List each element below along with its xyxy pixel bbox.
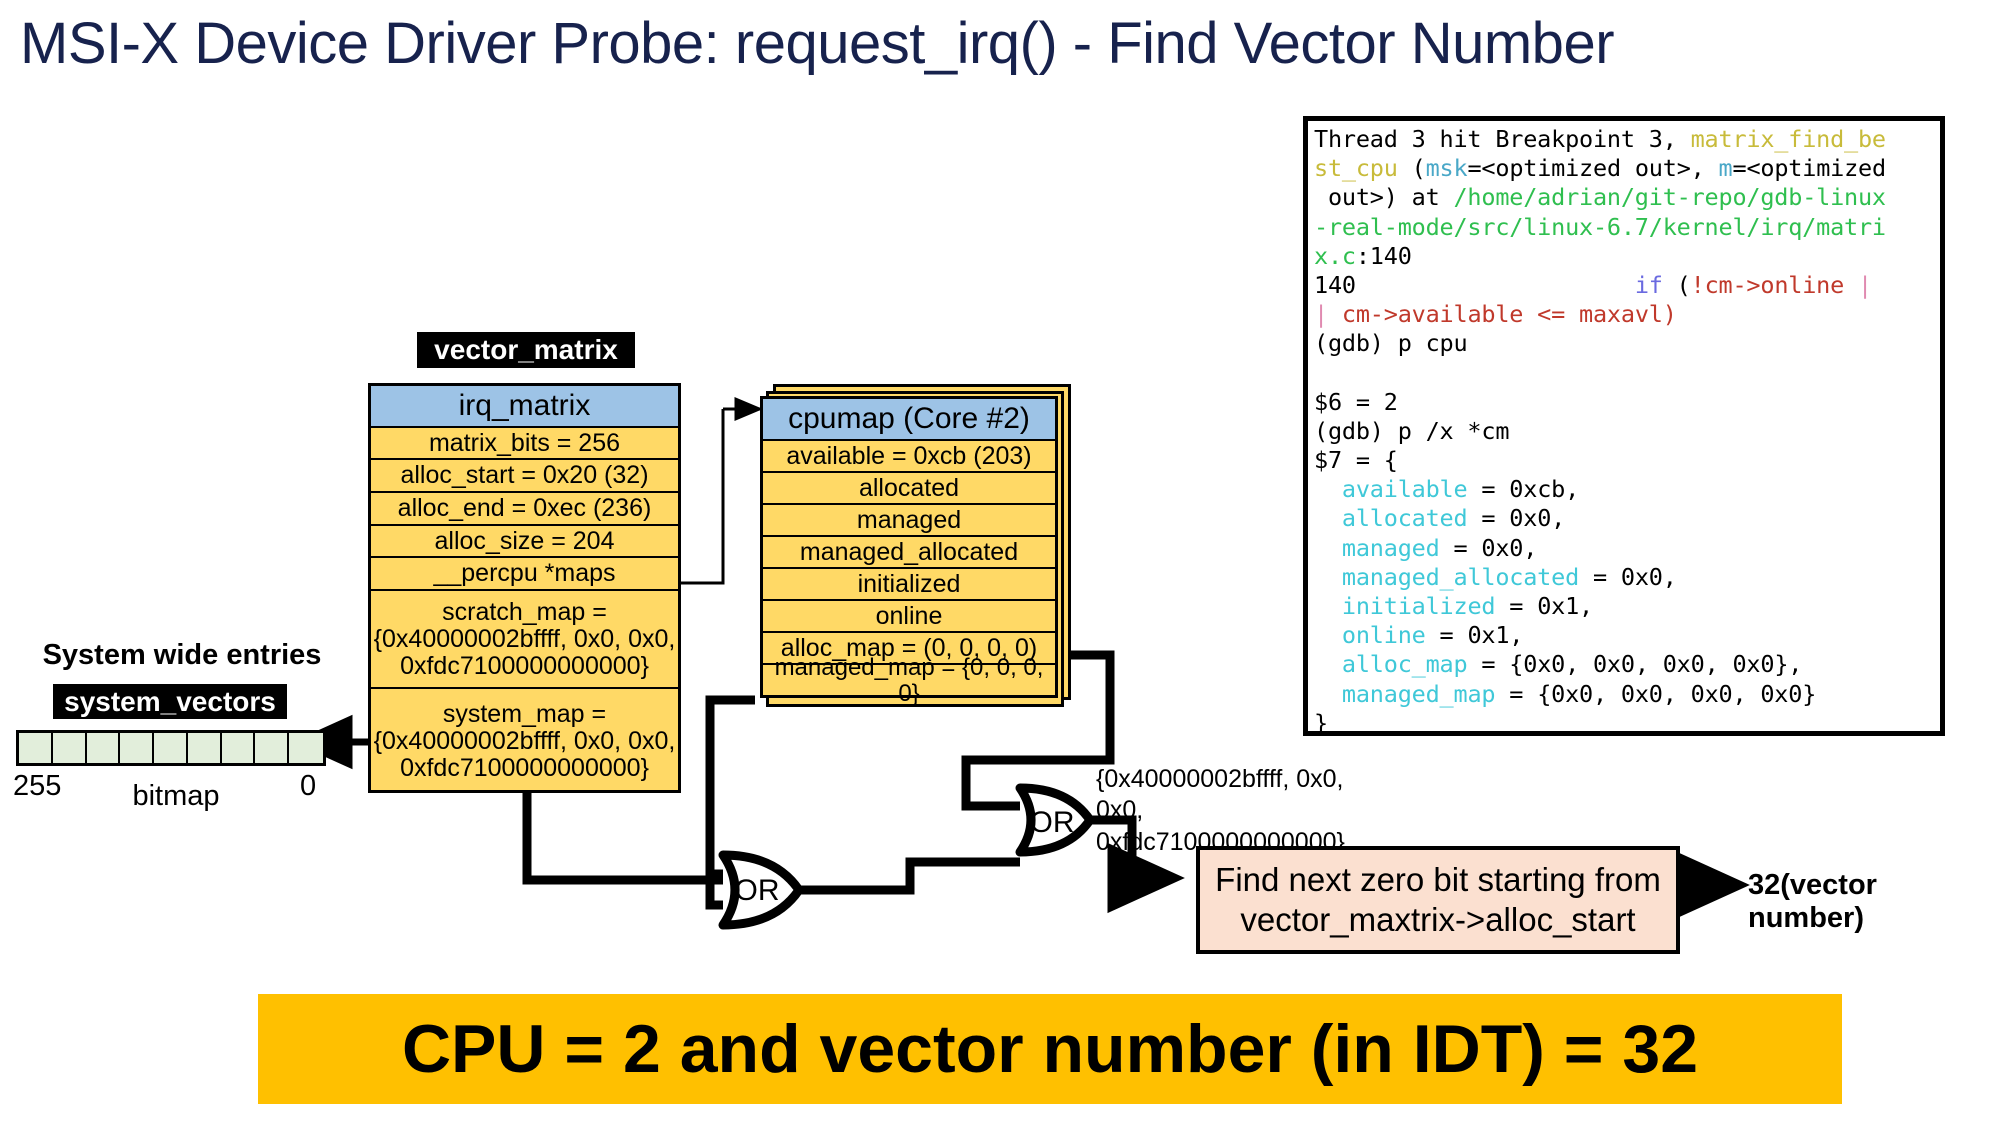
summary-banner: CPU = 2 and vector number (in IDT) = 32 [258, 994, 1842, 1104]
gdb-line: alloc_map = {0x0, 0x0, 0x0, 0x0}, [1314, 650, 1940, 679]
bitmap-cell [87, 733, 121, 763]
gdb-line: managed_allocated = 0x0, [1314, 563, 1940, 592]
gdb-line: (gdb) p cpu [1314, 329, 1940, 358]
vector-matrix-header: irq_matrix [371, 386, 678, 428]
bitmap-index-low: 0 [300, 770, 316, 803]
cpumap-row: initialized [763, 569, 1055, 601]
gdb-line [1314, 359, 1940, 388]
or-gate-1-label: OR [729, 874, 785, 908]
gdb-line: Thread 3 hit Breakpoint 3, matrix_find_b… [1314, 125, 1940, 154]
cpumap-row: managed_allocated [763, 537, 1055, 569]
find-next-zero-bit-box: Find next zero bit starting from vector_… [1196, 846, 1680, 954]
bitmap-cell [255, 733, 289, 763]
cpumap-row: allocated [763, 473, 1055, 505]
vector-number-output-label: 32(vector number) [1748, 869, 2000, 935]
vector-matrix-row: alloc_end = 0xec (236) [371, 493, 678, 526]
system-wide-entries-label: System wide entries [42, 639, 322, 672]
gdb-line: out>) at /home/adrian/git-repo/gdb-linux [1314, 183, 1940, 212]
gdb-line: -real-mode/src/linux-6.7/kernel/irq/matr… [1314, 213, 1940, 242]
page-title: MSI-X Device Driver Probe: request_irq()… [20, 14, 1920, 75]
bitmap-cell [289, 733, 323, 763]
bitmap-cell [154, 733, 188, 763]
vector-matrix-row: alloc_size = 204 [371, 526, 678, 558]
vector-matrix-row-percpu-maps: __percpu *maps [371, 558, 678, 591]
gdb-line: available = 0xcb, [1314, 475, 1940, 504]
bitmap-caption: bitmap [96, 780, 256, 813]
gdb-line: (gdb) p /x *cm [1314, 417, 1940, 446]
gdb-line: managed_map = {0x0, 0x0, 0x0, 0x0} [1314, 680, 1940, 709]
gdb-terminal-panel: Thread 3 hit Breakpoint 3, matrix_find_b… [1303, 116, 1945, 736]
gdb-line: allocated = 0x0, [1314, 504, 1940, 533]
gdb-line: st_cpu (msk=<optimized out>, m=<optimize… [1314, 154, 1940, 183]
bitmap-cell [53, 733, 87, 763]
gdb-line: $6 = 2 [1314, 388, 1940, 417]
vector-matrix-chip: vector_matrix [417, 332, 635, 368]
or-gate-2-annotation: {0x40000002bffff, 0x0, 0x0, 0xfdc7100000… [1096, 764, 1396, 858]
gdb-line: managed = 0x0, [1314, 534, 1940, 563]
gdb-line: online = 0x1, [1314, 621, 1940, 650]
cpumap-row: available = 0xcb (203) [763, 441, 1055, 473]
gdb-line: | cm->available <= maxavl) [1314, 300, 1940, 329]
vector-matrix-row-system-map: system_map = {0x40000002bffff, 0x0, 0x0,… [371, 689, 678, 793]
vector-matrix-row: matrix_bits = 256 [371, 428, 678, 460]
vector-matrix-row: alloc_start = 0x20 (32) [371, 460, 678, 493]
cpumap-row: managed [763, 505, 1055, 537]
system-vectors-bitmap [16, 730, 326, 766]
bitmap-index-high: 255 [13, 770, 61, 803]
bitmap-cell [120, 733, 154, 763]
vector-matrix-row-scratch-map: scratch_map = {0x40000002bffff, 0x0, 0x0… [371, 591, 678, 689]
vector-matrix-struct: irq_matrix matrix_bits = 256 alloc_start… [368, 383, 681, 793]
gdb-line: } [1314, 709, 1940, 736]
cpumap-row: online [763, 601, 1055, 633]
cpumap-header: cpumap (Core #2) [763, 399, 1055, 441]
gdb-output-text: Thread 3 hit Breakpoint 3, matrix_find_b… [1314, 125, 1940, 736]
gdb-line: initialized = 0x1, [1314, 592, 1940, 621]
gdb-line: x.c:140 [1314, 242, 1940, 271]
cpumap-struct: cpumap (Core #2) available = 0xcb (203) … [760, 396, 1058, 698]
cpumap-row-managed-map: managed_map = {0, 0, 0, 0} [763, 665, 1055, 697]
gdb-line: $7 = { [1314, 446, 1940, 475]
bitmap-cell [188, 733, 222, 763]
bitmap-cell [19, 733, 53, 763]
or-gate-2-label: OR [1026, 806, 1078, 840]
gdb-line: 140 if (!cm->online | [1314, 271, 1940, 300]
system-vectors-chip: system_vectors [53, 684, 287, 719]
bitmap-cell [222, 733, 256, 763]
